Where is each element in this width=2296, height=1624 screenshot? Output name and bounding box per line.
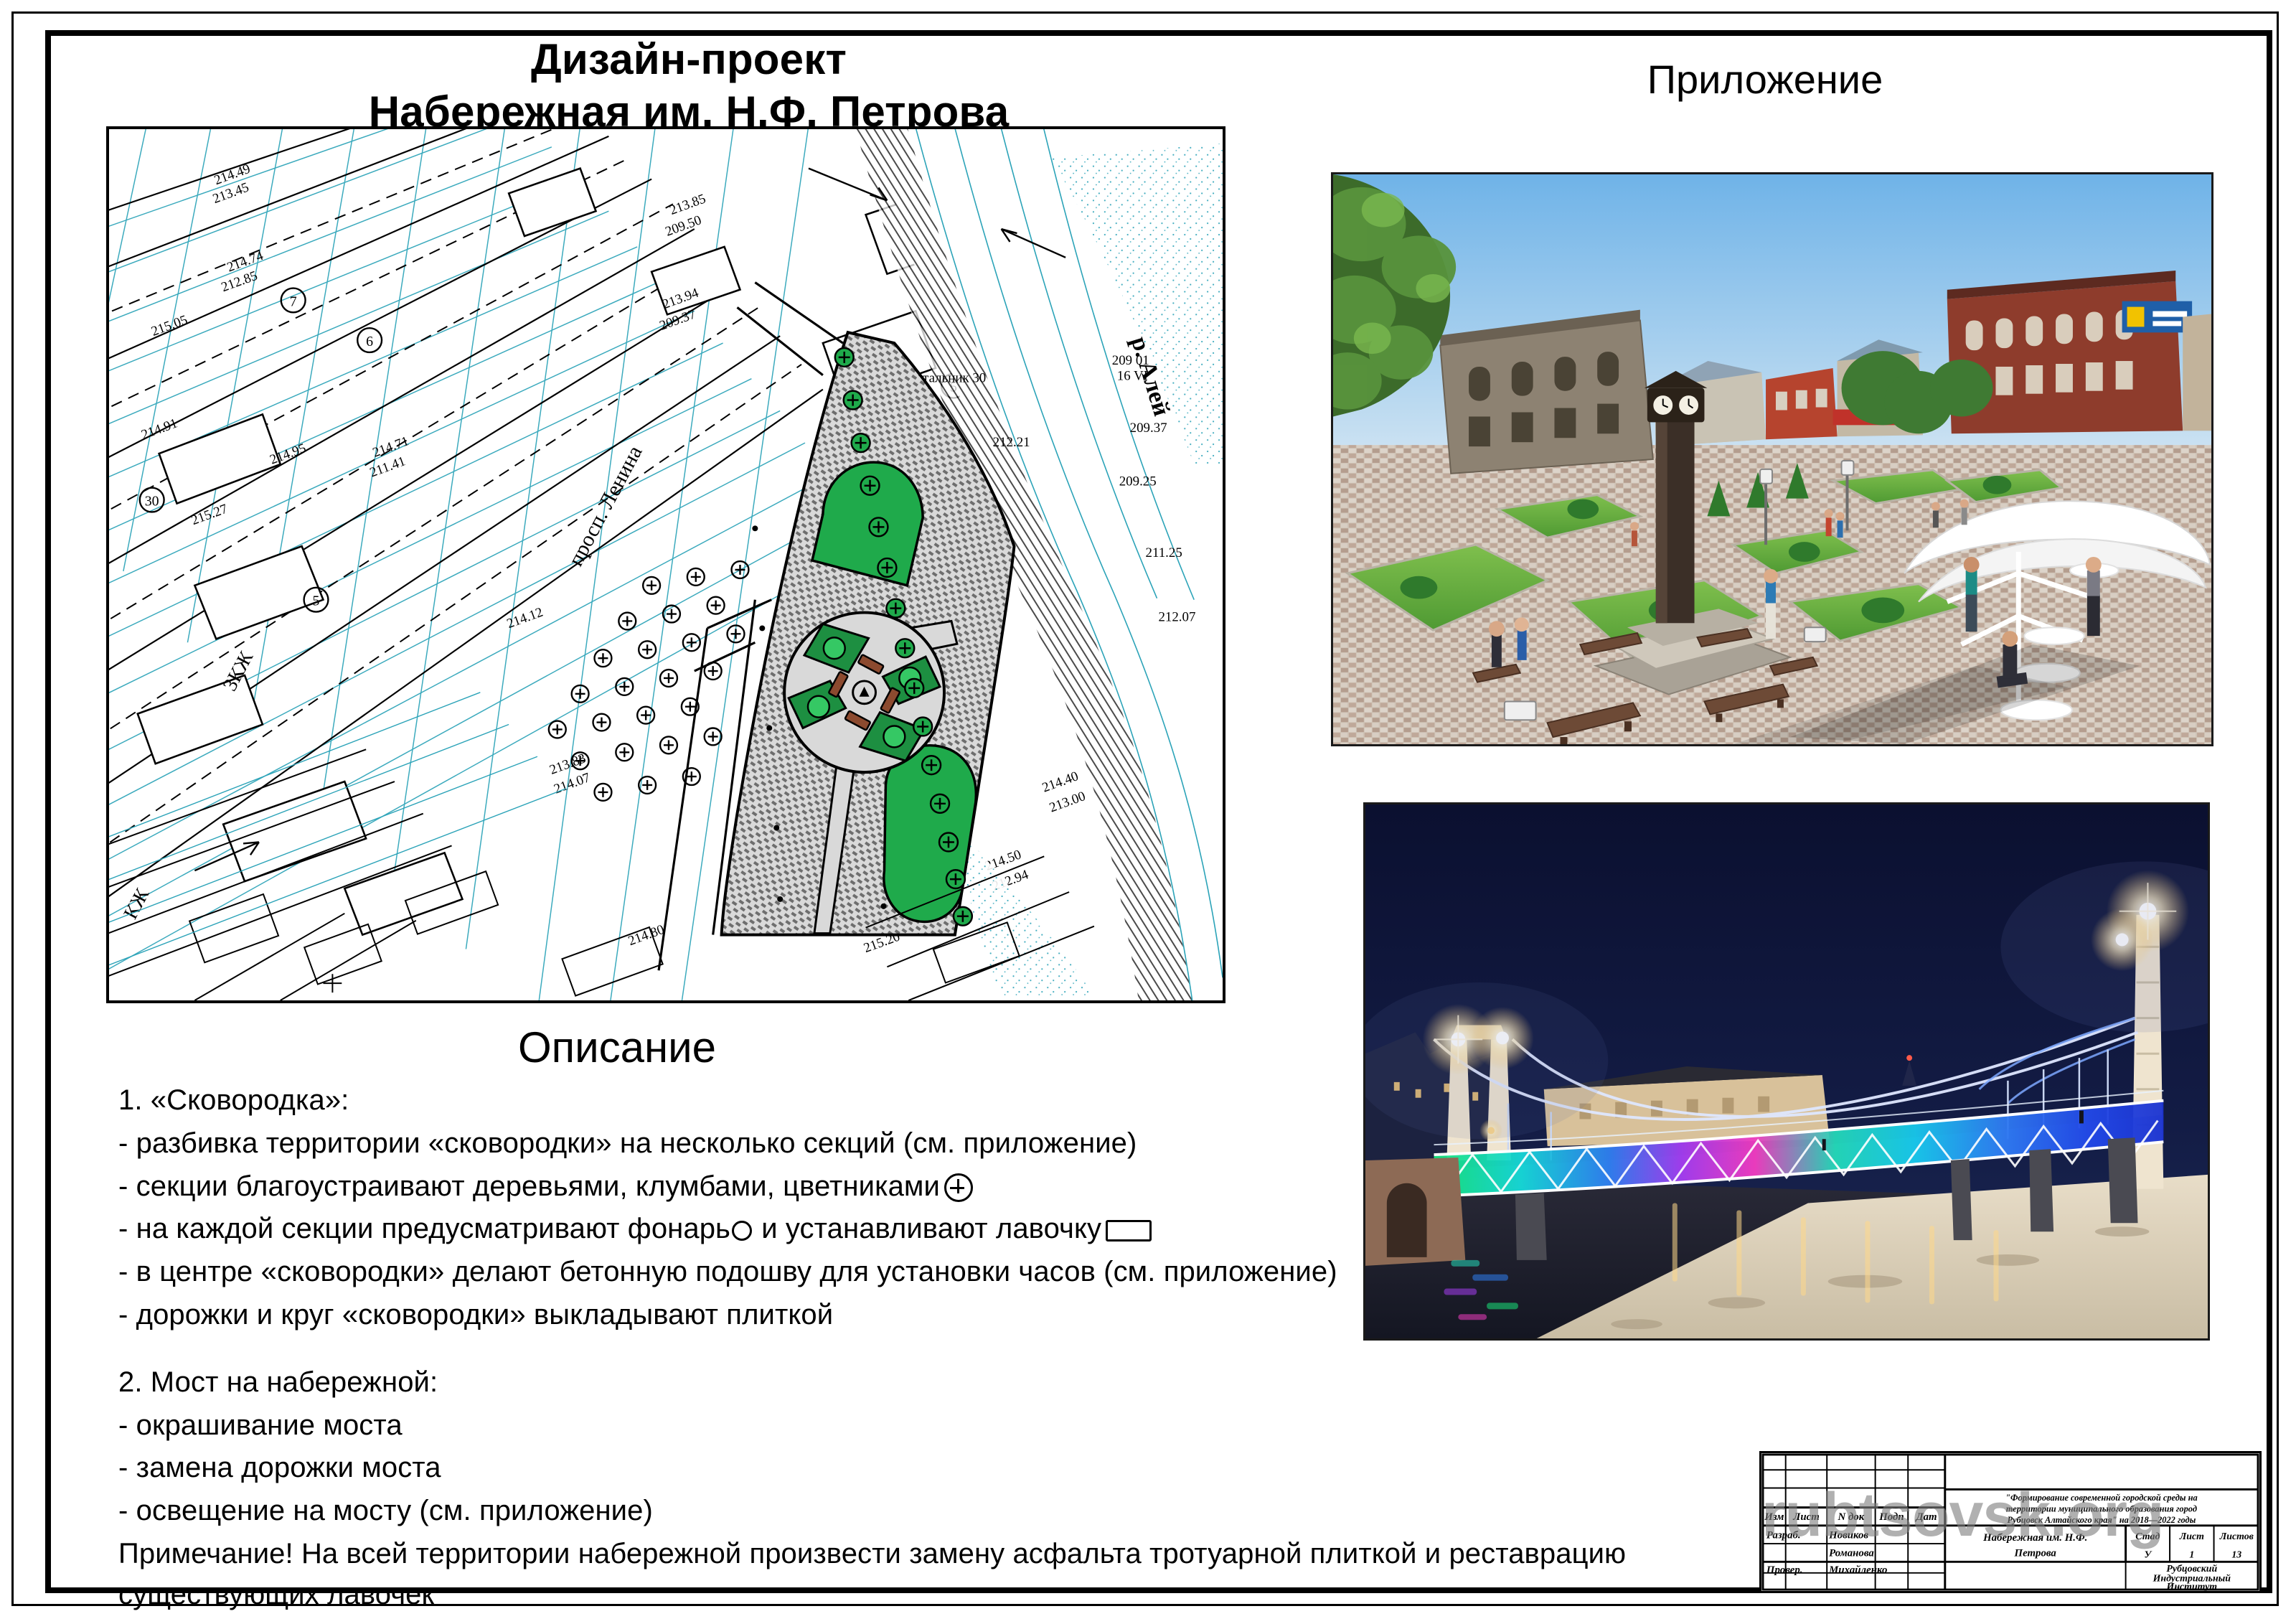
plaza-render-photo — [1331, 172, 2213, 746]
svg-text:Михайленко: Михайленко — [1828, 1564, 1887, 1576]
svg-text:7: 7 — [290, 294, 297, 309]
svg-text:Разраб.: Разраб. — [1766, 1529, 1801, 1541]
svg-text:13: 13 — [2231, 1549, 2241, 1560]
description-item-2-text: - секции благоустраивают деревьями, клум… — [118, 1170, 940, 1202]
svg-text:209 01: 209 01 — [1112, 353, 1149, 368]
svg-text:территории муниципального обра: территории муниципального образования го… — [2006, 1504, 2197, 1514]
svg-text:тальник 30: тальник 30 — [923, 371, 986, 386]
svg-text:212.21: 212.21 — [993, 435, 1030, 450]
description-section1-title: 1. «Сковородка»: — [118, 1080, 1744, 1121]
description-item-2: - секции благоустраивают деревьями, клум… — [118, 1166, 1744, 1207]
description-item-3-tail: и устанавливают лавочку — [753, 1213, 1101, 1244]
flowerbed-icon — [944, 1173, 973, 1202]
svg-text:Рубцовский: Рубцовский — [2166, 1563, 2217, 1574]
svg-text:209.37: 209.37 — [1130, 421, 1167, 436]
page-title-line1: Дизайн-проект — [215, 33, 1162, 85]
svg-text:Подп: Подп — [1878, 1511, 1904, 1523]
description-item-3-text: - на каждой секции предусматривают фонар… — [118, 1213, 730, 1244]
title-block-table: Изм Лист N док Подп Дат Разраб. Провер. … — [1761, 1453, 2259, 1591]
title-block-stamp: Изм Лист N док Подп Дат Разраб. Провер. … — [1759, 1451, 2262, 1593]
svg-text:N док: N док — [1838, 1511, 1865, 1523]
plaza-render-image — [1333, 174, 2211, 744]
description-item-5: - дорожки и круг «сковородки» выкладываю… — [118, 1295, 1744, 1336]
description-item-4: - в центре «сковородки» делают бетонную … — [118, 1252, 1744, 1292]
svg-text:6: 6 — [366, 334, 373, 349]
svg-text:Лист: Лист — [2179, 1531, 2205, 1541]
topographic-plan: 76 530 516 214.74 212.85 215.05 214.91 2… — [106, 126, 1225, 1003]
svg-text:16 VI: 16 VI — [1117, 369, 1148, 384]
description-note: Примечание! На всей территории набережно… — [118, 1534, 1744, 1615]
bench-icon — [1106, 1220, 1152, 1242]
svg-text:Лист: Лист — [1792, 1511, 1820, 1523]
svg-text:Романова: Романова — [1829, 1548, 1874, 1559]
svg-text:Дат: Дат — [1914, 1511, 1937, 1523]
description-item-8: - освещение на мосту (см. приложение) — [118, 1491, 1744, 1531]
svg-text:Рубцовск Алтайского края" на 2: Рубцовск Алтайского края" на 2018—2022 г… — [2008, 1515, 2196, 1525]
svg-text:Новиков: Новиков — [1828, 1529, 1868, 1541]
svg-text:Институт: Институт — [2166, 1581, 2218, 1591]
topographic-plan-drawing: 76 530 516 214.74 212.85 215.05 214.91 2… — [109, 129, 1223, 1000]
page-title: Дизайн-проект Набережная им. Н.Ф. Петров… — [215, 33, 1162, 138]
svg-text:Петрова: Петрова — [2014, 1548, 2056, 1559]
description-item-3: - на каждой секции предусматривают фонар… — [118, 1208, 1744, 1249]
svg-text:Листов: Листов — [2219, 1531, 2254, 1541]
svg-text:Набережная им. Н.Ф.: Набережная им. Н.Ф. — [1982, 1532, 2087, 1544]
svg-text:30: 30 — [145, 494, 159, 510]
svg-text:Провер.: Провер. — [1766, 1564, 1803, 1576]
description-item-1: - разбивка территории «сковородки» на не… — [118, 1123, 1744, 1164]
svg-text:"Формирование современной горо: "Формирование современной городской сред… — [2005, 1493, 2198, 1503]
description-text: 1. «Сковородка»: - разбивка территории «… — [118, 1080, 1744, 1618]
lamp-icon — [732, 1221, 752, 1241]
svg-text:У: У — [2145, 1549, 2152, 1560]
svg-text:212.07: 212.07 — [1158, 609, 1195, 624]
svg-text:209.25: 209.25 — [1119, 474, 1157, 489]
svg-text:Изм: Изм — [1764, 1511, 1784, 1523]
description-item-6: - окрашивание моста — [118, 1405, 1744, 1446]
svg-text:5: 5 — [313, 593, 320, 609]
description-heading: Описание — [402, 1023, 832, 1072]
svg-text:211.25: 211.25 — [1146, 545, 1182, 560]
description-item-7: - замена дорожки моста — [118, 1447, 1744, 1488]
svg-text:1: 1 — [2189, 1549, 2194, 1560]
appendix-heading: Приложение — [1478, 56, 2052, 103]
svg-text:Стад: Стад — [2135, 1531, 2160, 1541]
description-section2-title: 2. Мост на набережной: — [118, 1362, 1744, 1403]
description-spacer — [118, 1338, 1744, 1362]
